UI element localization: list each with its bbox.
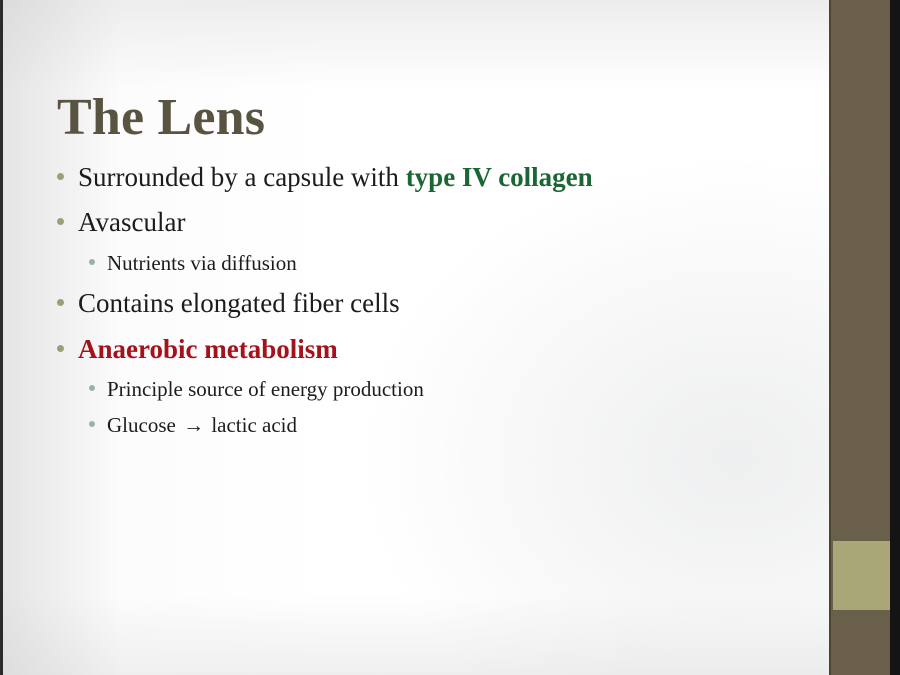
sub-bullet-dot-icon <box>89 259 95 265</box>
sub-bullet-dot-icon <box>89 421 95 427</box>
bullet-dot-icon <box>57 345 64 352</box>
bullet-text: Anaerobic metabolism <box>78 330 338 368</box>
sub-bullet-item: Nutrients via diffusion <box>57 249 797 279</box>
bullet-text-emphasis: Anaerobic metabolism <box>78 334 338 364</box>
bullet-dot-icon <box>57 299 64 306</box>
bullet-text: Surrounded by a capsule with type IV col… <box>78 158 593 196</box>
slide-body-list: Surrounded by a capsule with type IV col… <box>57 158 797 447</box>
bullet-dot-icon <box>57 218 64 225</box>
bullet-item: Surrounded by a capsule with type IV col… <box>57 158 797 196</box>
bullet-item: Anaerobic metabolism <box>57 330 797 368</box>
sub-bullet-text: Glucose → lactic acid <box>107 411 297 441</box>
slide-left-edge-rule <box>0 0 3 675</box>
bullet-text: Contains elongated fiber cells <box>78 284 400 322</box>
sub-bullet-text: Nutrients via diffusion <box>107 249 297 279</box>
bullet-item: Avascular <box>57 203 797 241</box>
bullet-item: Contains elongated fiber cells <box>57 284 797 322</box>
bullet-text-emphasis: type IV collagen <box>406 162 593 192</box>
bullet-dot-icon <box>57 173 64 180</box>
sub-bullet-item: Principle source of energy production <box>57 375 797 405</box>
presentation-slide: The Lens Surrounded by a capsule with ty… <box>0 0 900 675</box>
sub-bullet-dot-icon <box>89 385 95 391</box>
slide-right-edge-rule <box>890 0 900 675</box>
sub-bullet-item: Glucose → lactic acid <box>57 411 797 441</box>
side-decoration-accent-block <box>833 541 890 610</box>
bullet-text-lead: Surrounded by a capsule with <box>78 162 406 192</box>
right-arrow-icon: → <box>181 413 206 437</box>
sub-bullet-text-lead: Glucose <box>107 413 181 437</box>
slide-title: The Lens <box>57 91 265 146</box>
sub-bullet-text-tail: lactic acid <box>206 413 297 437</box>
bullet-text: Avascular <box>78 203 185 241</box>
sub-bullet-text: Principle source of energy production <box>107 375 424 405</box>
